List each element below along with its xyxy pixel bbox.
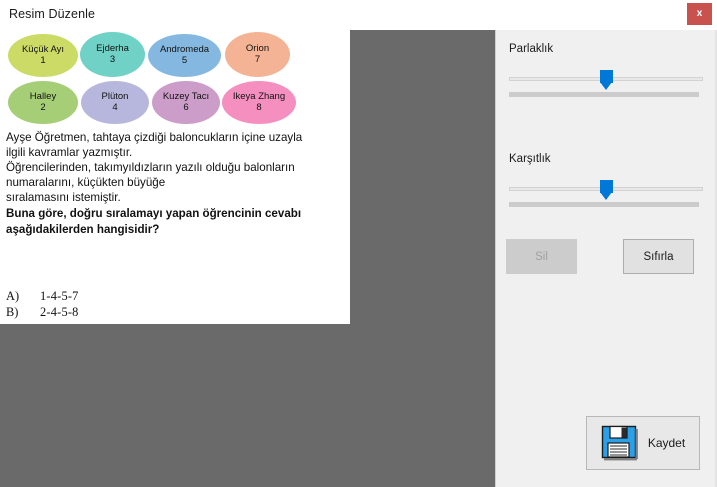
balloon-number: 4 <box>112 103 117 113</box>
question-image[interactable]: Küçük Ayı1Ejderha3Andromeda5Orion7Halley… <box>0 30 350 324</box>
image-canvas[interactable]: Küçük Ayı1Ejderha3Andromeda5Orion7Halley… <box>0 30 495 487</box>
balloon-label: Plüton <box>102 92 129 102</box>
balloon-label: Ikeya Zhang <box>233 92 285 102</box>
balloon-5: Halley2 <box>8 81 78 124</box>
option-letter: C) <box>6 321 40 324</box>
option-value: 1-4-5-7 <box>40 288 79 304</box>
answer-options: A)1-4-5-7B)2-4-5-8C)2-3-6-8D)1-3-6-7 <box>6 288 306 324</box>
balloon-label: Orion <box>246 44 269 54</box>
balloon-label: Andromeda <box>160 45 209 55</box>
option-value: 2-3-6-8 <box>40 321 79 324</box>
slider-0[interactable] <box>509 68 703 94</box>
button-label: Sıfırla <box>643 251 673 263</box>
slider-underbar-1[interactable] <box>509 202 699 207</box>
balloon-number: 1 <box>40 56 45 66</box>
balloon-number: 2 <box>40 103 45 113</box>
balloon-number: 8 <box>256 103 261 113</box>
balloon-2: Ejderha3 <box>80 32 145 77</box>
question-line-5: sıralamasını istemiştir. <box>6 190 348 205</box>
balloon-number: 6 <box>183 103 188 113</box>
balloon-1: Küçük Ayı1 <box>8 34 78 77</box>
slider-thumb-tip <box>600 82 612 90</box>
close-button[interactable]: x <box>687 3 712 25</box>
balloon-number: 7 <box>255 55 260 65</box>
page-title: Resim Düzenle <box>9 7 95 21</box>
save-button-label: Kaydet <box>648 436 685 450</box>
balloon-4: Orion7 <box>225 32 290 77</box>
balloon-3: Andromeda5 <box>148 34 221 77</box>
slider-thumb-tip <box>600 192 612 200</box>
question-line-1: Ayşe Öğretmen, tahtaya çizdiği baloncukl… <box>6 130 348 145</box>
answer-option-A: A)1-4-5-7 <box>6 288 306 304</box>
button-label: Sil <box>535 251 548 263</box>
balloon-group: Küçük Ayı1Ejderha3Andromeda5Orion7Halley… <box>0 30 350 128</box>
question-text: Ayşe Öğretmen, tahtaya çizdiği baloncukl… <box>6 130 348 237</box>
slider-thumb[interactable] <box>600 70 613 91</box>
save-floppy-icon <box>601 424 639 462</box>
slider-thumb[interactable] <box>600 180 613 201</box>
question-line-2: ilgili kavramlar yazmıştır. <box>6 145 348 160</box>
option-letter: A) <box>6 288 40 304</box>
balloon-6: Plüton4 <box>81 81 149 124</box>
balloon-label: Küçük Ayı <box>22 45 64 55</box>
balloon-label: Kuzey Tacı <box>163 92 209 102</box>
option-letter: B) <box>6 304 40 320</box>
slider-underbar-0[interactable] <box>509 92 699 97</box>
question-line-6: Buna göre, doğru sıralamayı yapan öğrenc… <box>6 206 348 221</box>
answer-option-C: C)2-3-6-8 <box>6 321 306 324</box>
image-editor-window: Resim Düzenle x Küçük Ayı1Ejderha3Androm… <box>0 0 717 487</box>
answer-option-B: B)2-4-5-8 <box>6 304 306 320</box>
balloon-7: Kuzey Tacı6 <box>152 81 220 124</box>
question-line-3: Öğrencilerinden, takımyıldızların yazılı… <box>6 160 348 175</box>
question-line-4: numaralarını, küçükten büyüğe <box>6 175 348 190</box>
sil-button: Sil <box>506 239 577 274</box>
balloon-8: Ikeya Zhang8 <box>222 81 296 124</box>
balloon-label: Ejderha <box>96 44 129 54</box>
question-line-7: aşağıdakilerden hangisidir? <box>6 222 348 237</box>
balloon-number: 3 <box>110 55 115 65</box>
close-icon: x <box>697 9 703 19</box>
title-bar: Resim Düzenle x <box>0 0 717 30</box>
slider-label-0: Parlaklık <box>509 43 553 55</box>
balloon-number: 5 <box>182 56 187 66</box>
save-button[interactable]: Kaydet <box>586 416 700 470</box>
slider-label-1: Karşıtlık <box>509 153 551 165</box>
option-value: 2-4-5-8 <box>40 304 79 320</box>
sfrla-button[interactable]: Sıfırla <box>623 239 694 274</box>
slider-1[interactable] <box>509 178 703 204</box>
balloon-label: Halley <box>30 92 56 102</box>
